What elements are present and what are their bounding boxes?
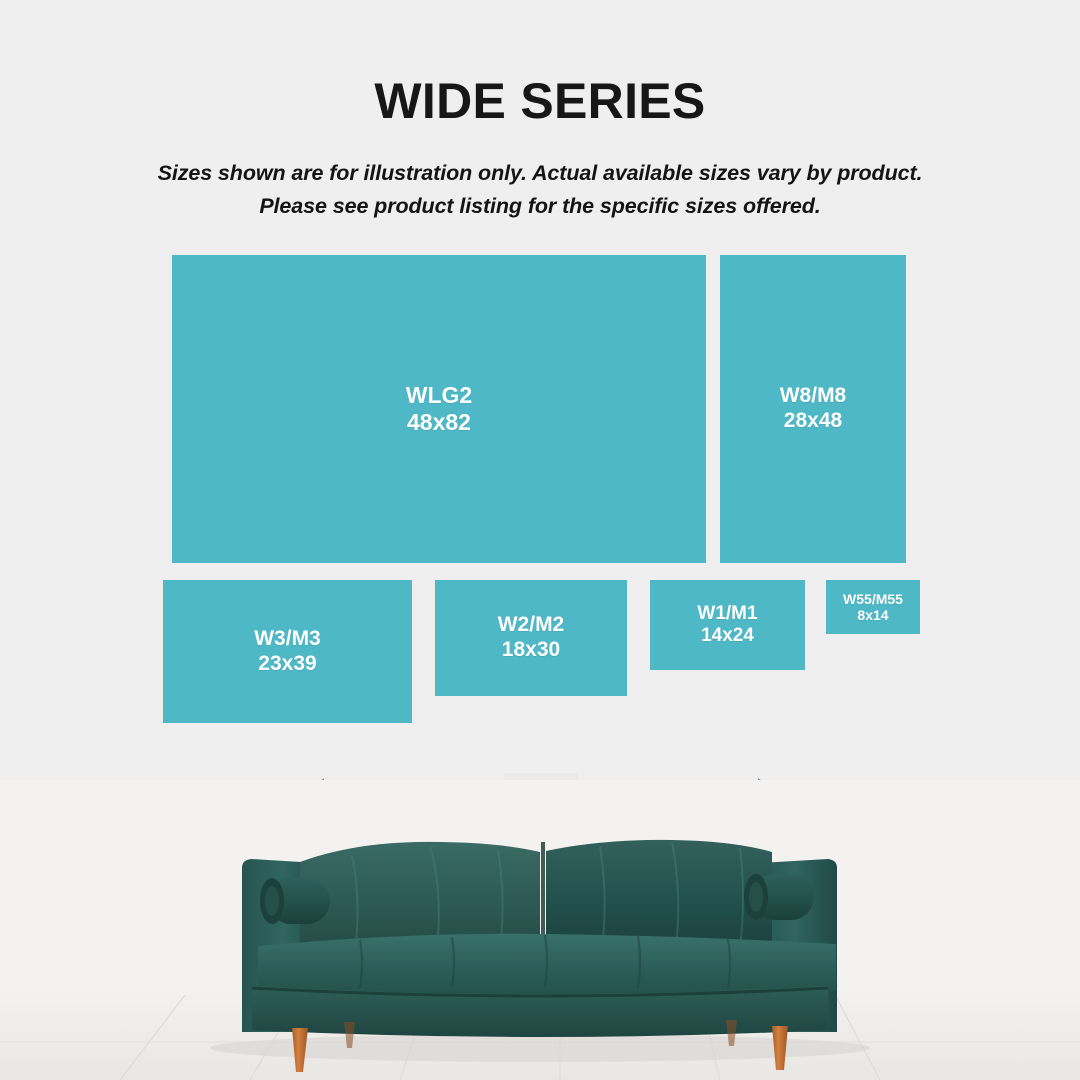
sofa-illustration — [0, 780, 1080, 1080]
size-code-label: W55/M55 — [843, 591, 903, 607]
size-dims-label: 18x30 — [502, 638, 560, 663]
sofa-bolster-right — [744, 874, 814, 920]
page-title: WIDE SERIES — [0, 76, 1080, 126]
size-swatch-w1-m1[interactable]: W1/M1 14x24 — [650, 580, 805, 670]
size-code-label: W3/M3 — [254, 627, 321, 652]
sofa-shadow — [210, 1034, 870, 1062]
size-code-label: WLG2 — [406, 382, 472, 409]
size-swatch-w8-m8[interactable]: W8/M8 28x48 — [720, 255, 906, 563]
size-dims-label: 28x48 — [784, 409, 842, 434]
sofa-bolster-left — [260, 878, 330, 924]
sofa-svg — [0, 780, 1080, 1080]
size-swatch-wlg2[interactable]: WLG2 48x82 — [172, 255, 706, 563]
header: WIDE SERIES Sizes shown are for illustra… — [0, 0, 1080, 222]
size-dims-label: 14x24 — [701, 625, 754, 647]
disclaimer-line-1: Sizes shown are for illustration only. A… — [0, 157, 1080, 190]
disclaimer-text: Sizes shown are for illustration only. A… — [0, 157, 1080, 222]
size-code-label: W1/M1 — [697, 603, 757, 625]
size-guide-canvas: WIDE SERIES Sizes shown are for illustra… — [0, 0, 1080, 1080]
size-swatch-w3-m3[interactable]: W3/M3 23x39 — [163, 580, 412, 723]
size-swatch-w2-m2[interactable]: W2/M2 18x30 — [435, 580, 627, 696]
size-swatch-w55-m55[interactable]: W55/M55 8x14 — [826, 580, 920, 634]
size-code-label: W2/M2 — [498, 613, 565, 638]
disclaimer-line-2: Please see product listing for the speci… — [0, 190, 1080, 223]
size-dims-label: 48x82 — [407, 409, 471, 436]
size-dims-label: 23x39 — [258, 652, 316, 677]
size-code-label: W8/M8 — [780, 384, 847, 409]
size-dims-label: 8x14 — [857, 607, 888, 623]
